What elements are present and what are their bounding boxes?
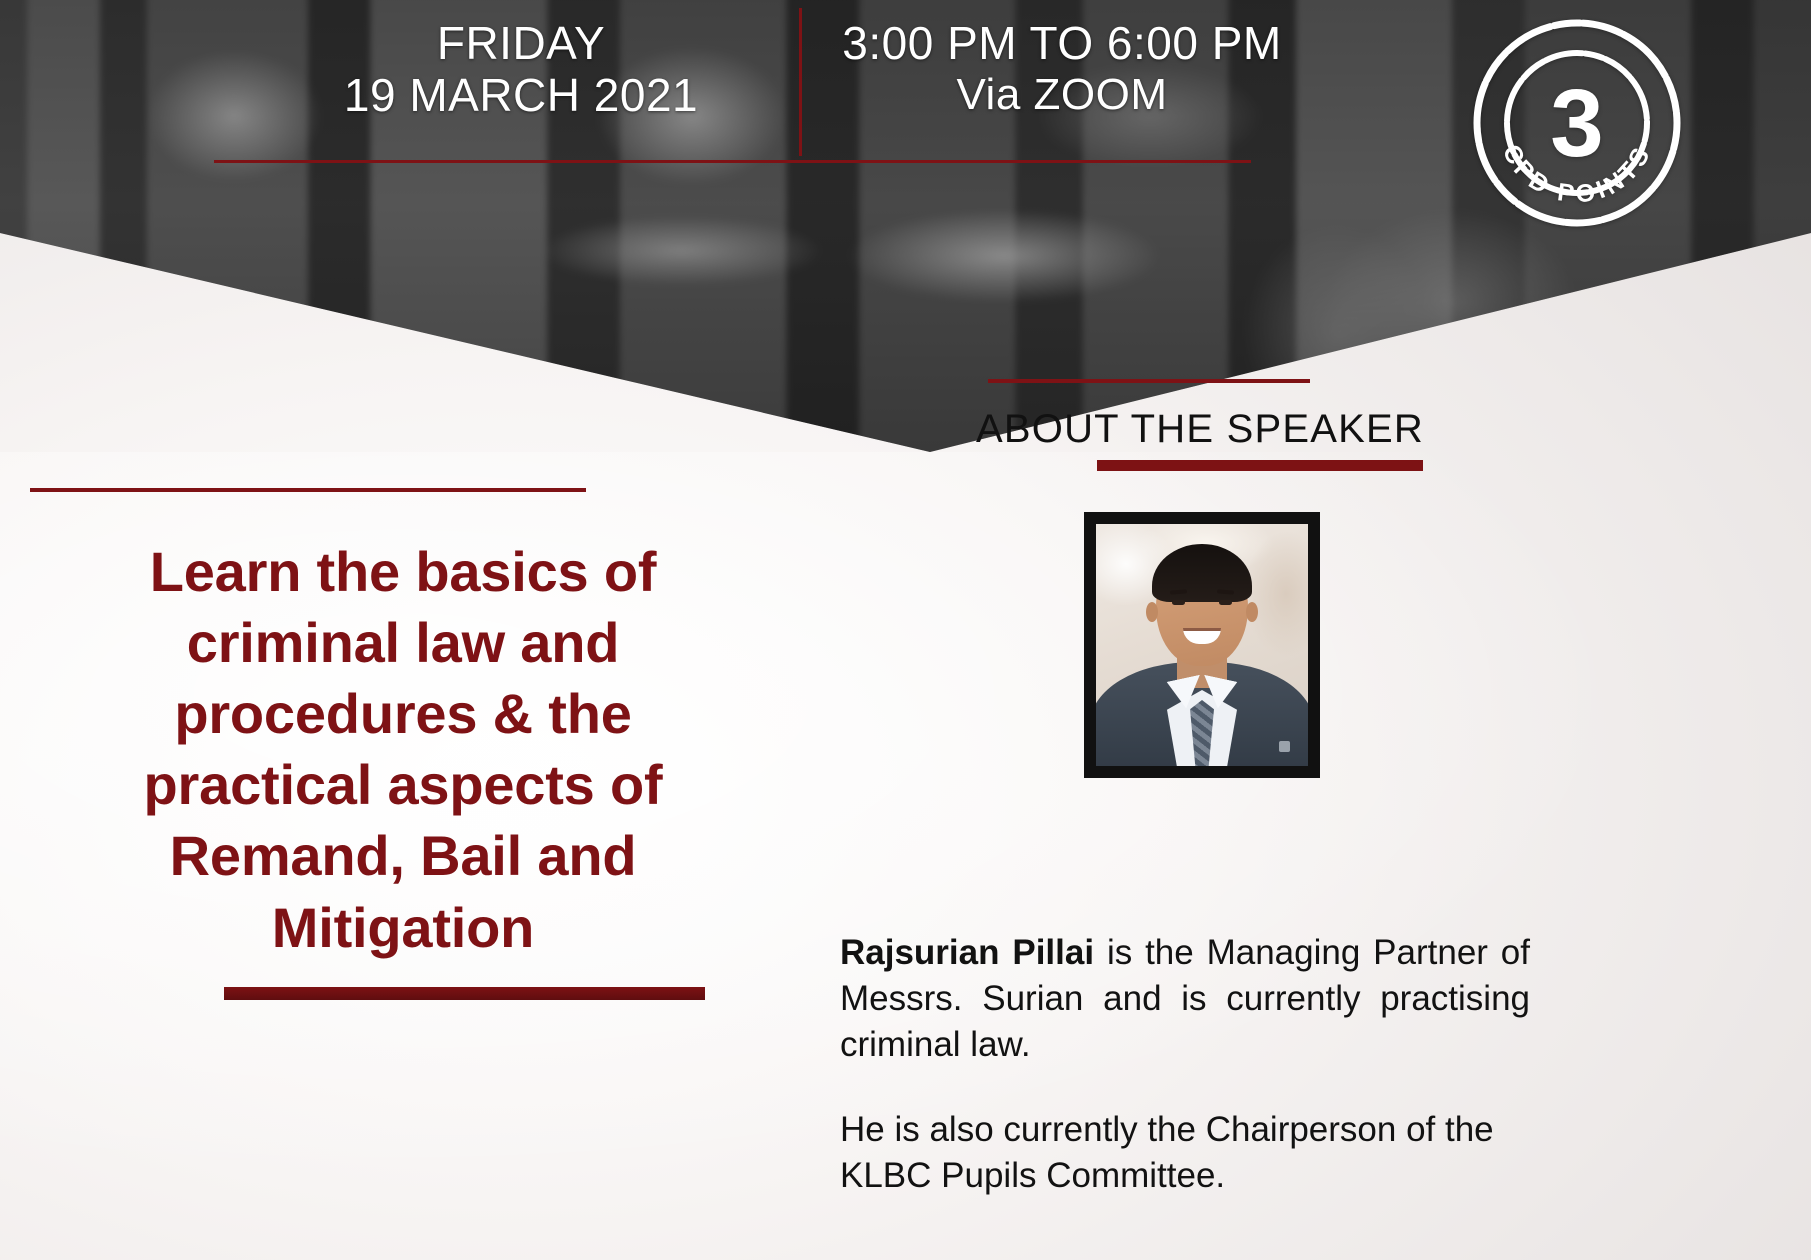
speaker-bio-paragraph-1: Rajsurian Pillai is the Managing Partner… <box>840 930 1530 1069</box>
speaker-rule-bottom <box>1097 460 1423 471</box>
portrait-ear-left <box>1146 602 1158 622</box>
title-line: Mitigation <box>28 892 778 963</box>
portrait-ear-right <box>1246 602 1258 622</box>
speaker-portrait-image <box>1096 524 1308 766</box>
speaker-bio-paragraph-2: He is also currently the Chairperson of … <box>840 1107 1530 1199</box>
title-line: Learn the basics of <box>28 536 778 607</box>
speaker-rule-top <box>988 379 1310 383</box>
header-horizontal-divider <box>214 160 1251 163</box>
title-line: criminal law and <box>28 607 778 678</box>
event-time-line-1: 3:00 PM TO 6:00 PM <box>812 18 1312 70</box>
event-time: 3:00 PM TO 6:00 PM Via ZOOM <box>812 18 1312 119</box>
cpd-badge-number: 3 <box>1550 70 1603 177</box>
page-title: Learn the basics of criminal law and pro… <box>28 536 778 963</box>
speaker-bio: Rajsurian Pillai is the Managing Partner… <box>840 930 1530 1199</box>
portrait-eye-left <box>1172 600 1185 605</box>
speaker-name: Rajsurian Pillai <box>840 933 1094 972</box>
cpd-points-badge: 3 CPD POINTS <box>1468 14 1686 232</box>
event-platform-line: Via ZOOM <box>812 70 1312 119</box>
event-date: FRIDAY 19 MARCH 2021 <box>236 18 806 121</box>
title-line: procedures & the <box>28 678 778 749</box>
title-rule-bottom <box>224 987 705 1000</box>
event-date-line-1: FRIDAY <box>236 18 806 70</box>
portrait-eye-right <box>1219 600 1232 605</box>
title-line: Remand, Bail and <box>28 820 778 891</box>
portrait-lapel-pin <box>1279 741 1290 752</box>
speaker-photo-frame <box>1084 512 1320 778</box>
title-rule-top <box>30 488 586 492</box>
about-the-speaker-heading: ABOUT THE SPEAKER <box>880 407 1520 452</box>
title-line: practical aspects of <box>28 749 778 820</box>
event-date-line-2: 19 MARCH 2021 <box>236 70 806 122</box>
